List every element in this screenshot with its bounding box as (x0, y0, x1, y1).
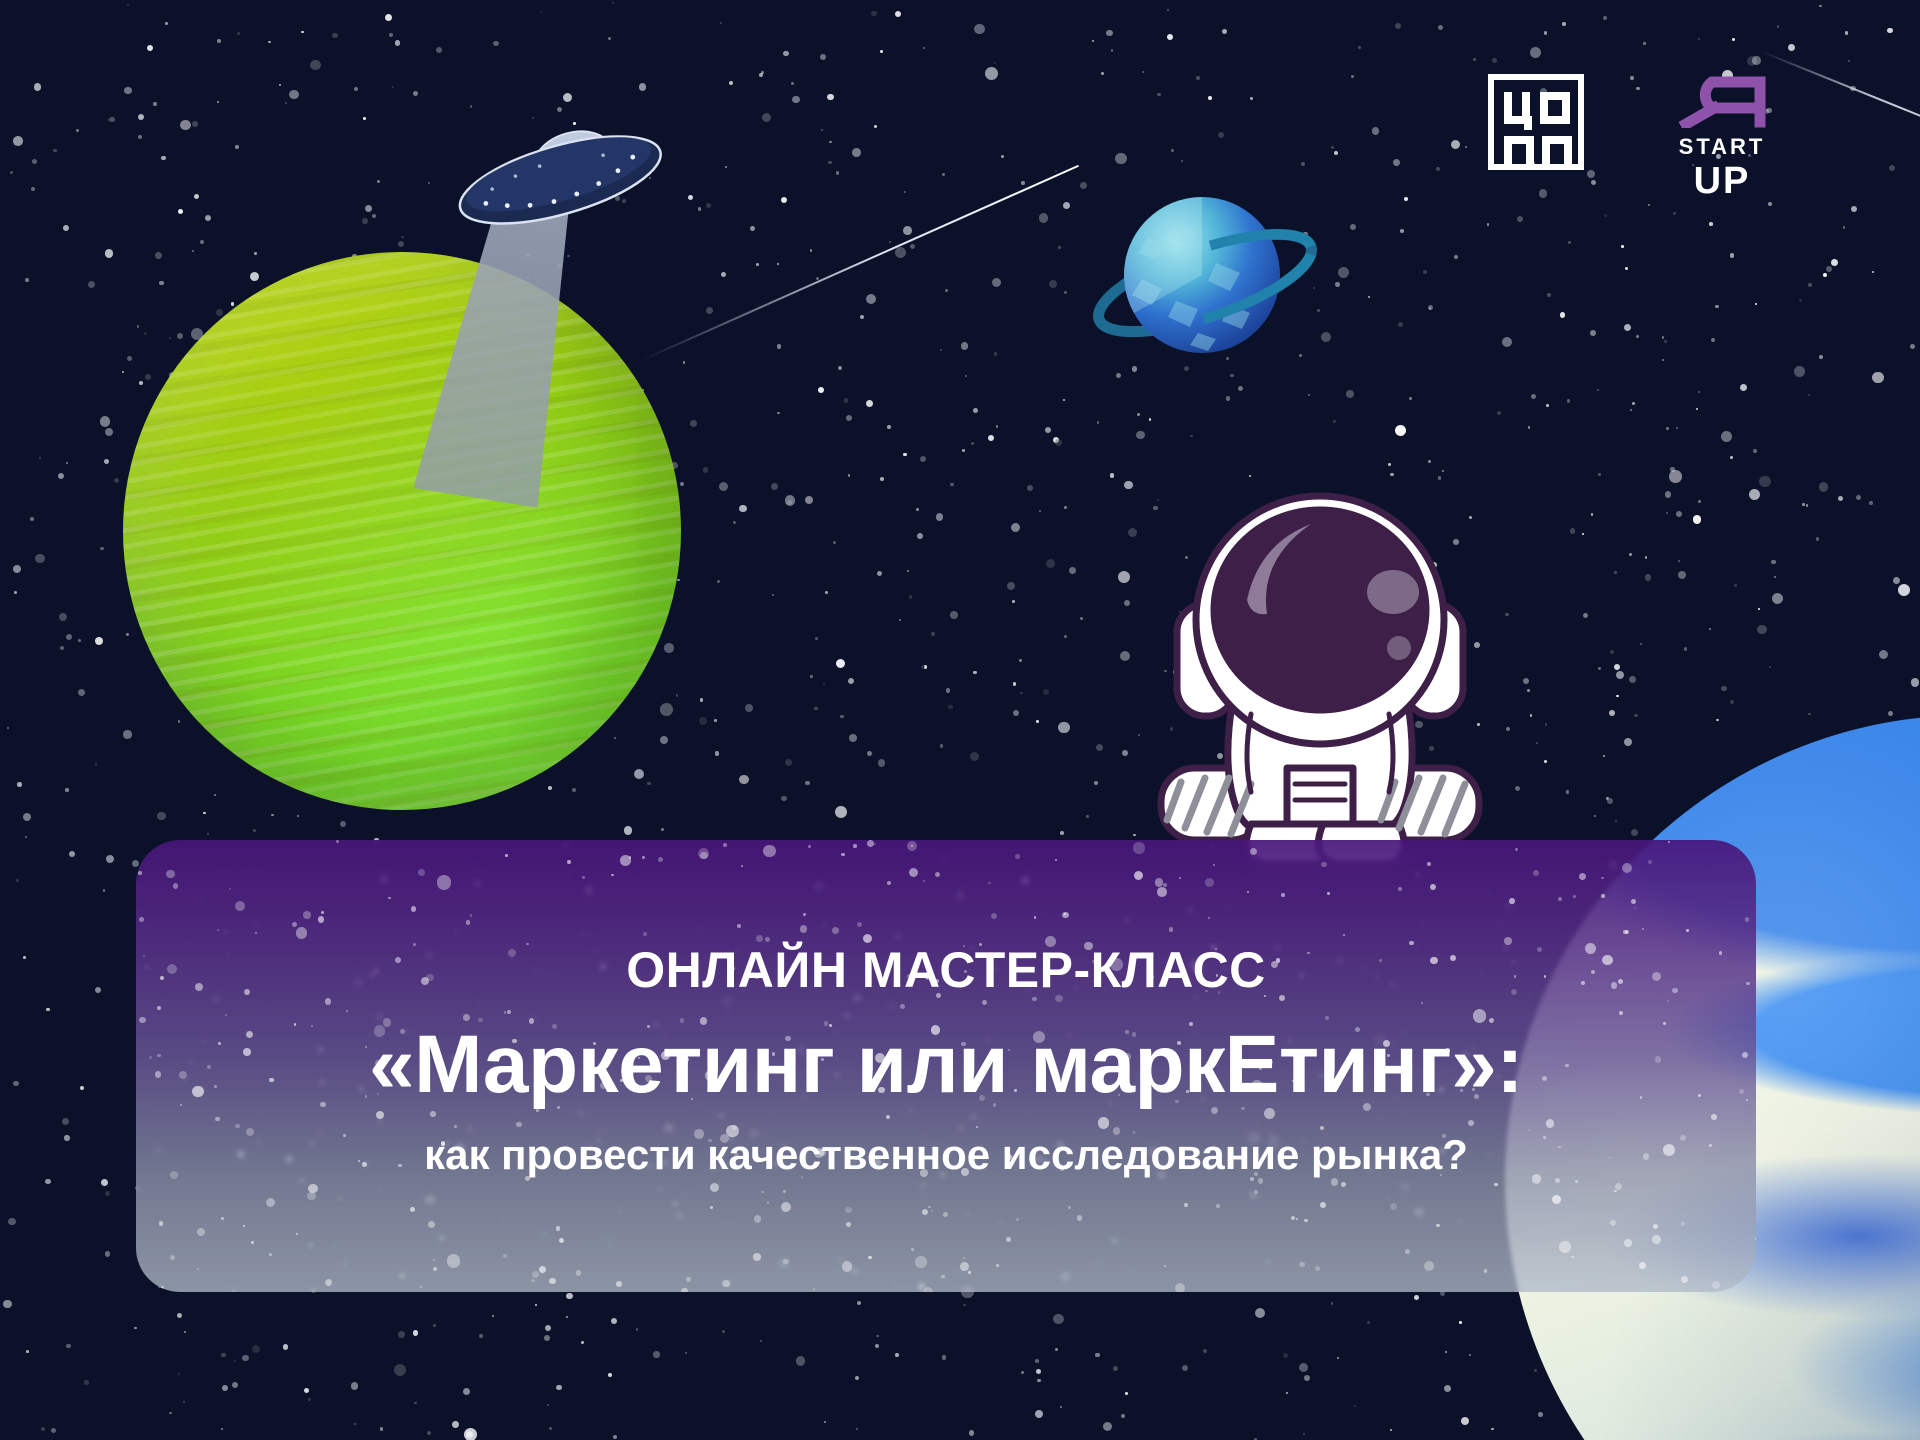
title-card-content: ОНЛАЙН МАСТЕР-КЛАСС «Маркетинг или маркЕ… (176, 944, 1716, 1179)
title-card: ОНЛАЙН МАСТЕР-КЛАСС «Маркетинг или маркЕ… (136, 840, 1756, 1292)
astronaut-character (1155, 452, 1485, 872)
event-type-kicker: ОНЛАЙН МАСТЕР-КЛАСС (176, 944, 1716, 997)
startup-line-2: UP (1670, 162, 1774, 200)
mirrored-ya-icon (1672, 74, 1772, 128)
logo-group: START UP (1488, 74, 1774, 200)
poster-canvas: START UP ОНЛАЙН МАСТЕР-КЛАСС «Маркетинг … (0, 0, 1920, 1440)
page-subtitle: как провести качественное исследование р… (176, 1131, 1716, 1179)
copp-logo (1488, 74, 1584, 170)
green-planet (123, 252, 681, 810)
ringed-planet (1090, 175, 1320, 385)
page-title: «Маркетинг или маркЕтинг»: (176, 1021, 1716, 1110)
startup-logo: START UP (1670, 74, 1774, 200)
startup-line-1: START (1670, 136, 1774, 158)
